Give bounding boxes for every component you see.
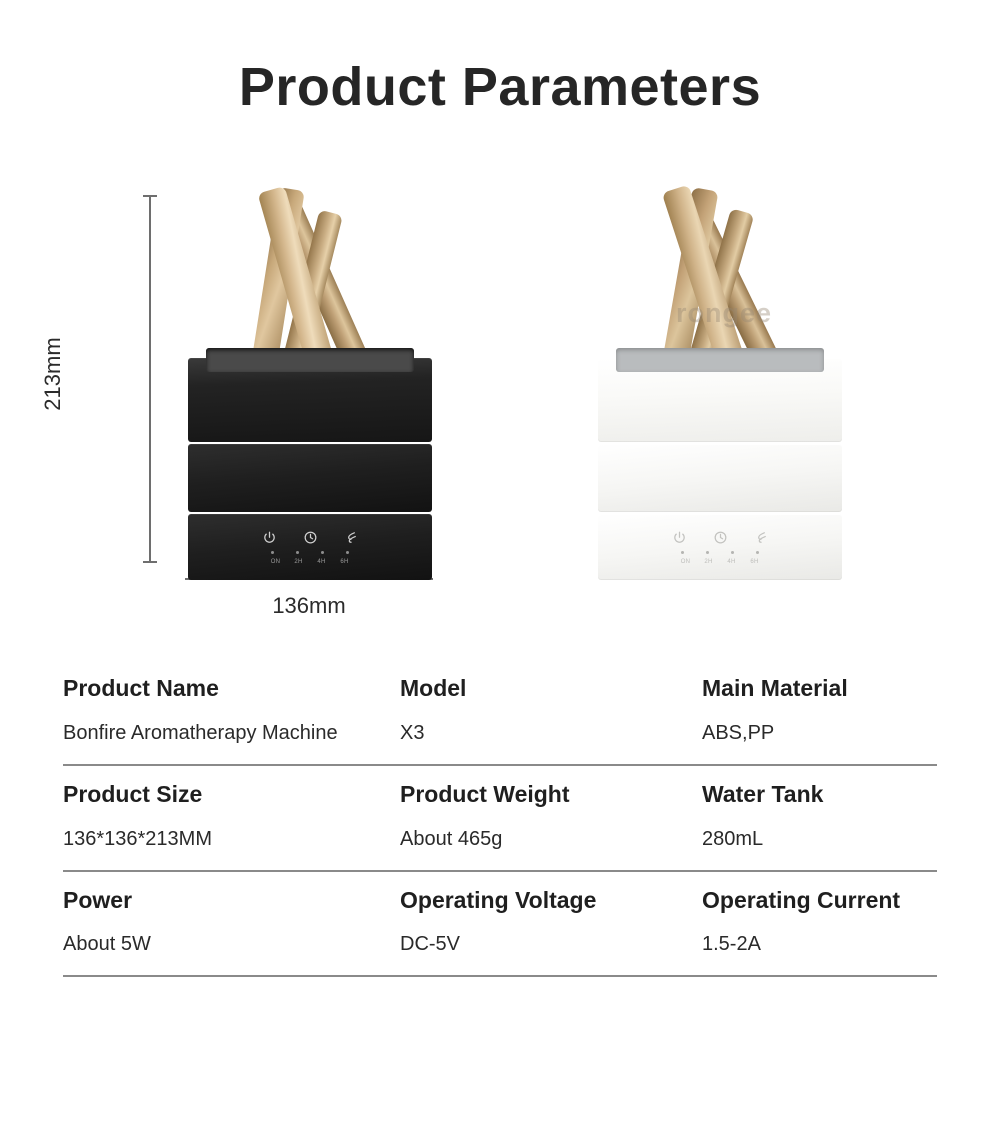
spec-label: Power xyxy=(63,886,386,929)
led-dot xyxy=(706,551,709,554)
clock-icon xyxy=(713,530,728,545)
width-dimension-label: 136mm xyxy=(185,593,433,619)
spec-value: 1.5-2A xyxy=(702,928,923,959)
spec-label: Water Tank xyxy=(702,780,923,823)
timer-label: ON xyxy=(269,559,283,565)
spec-cell: Product Name Bonfire Aromatherapy Machin… xyxy=(63,674,400,748)
led-dot xyxy=(731,551,734,554)
spec-cell: Operating Current 1.5-2A xyxy=(702,886,937,960)
power-icon xyxy=(262,530,277,545)
spec-value: 136*136*213MM xyxy=(63,823,386,854)
product-image-black-unit: ON 2H 4H 6H xyxy=(178,180,442,580)
mist-icon xyxy=(344,530,359,545)
timer-label: 4H xyxy=(315,559,329,565)
timer-labels-black: ON 2H 4H 6H xyxy=(269,559,352,565)
led-dot xyxy=(756,551,759,554)
spec-label: Product Name xyxy=(63,674,386,717)
spec-label: Main Material xyxy=(702,674,923,717)
mist-icon xyxy=(754,530,769,545)
spec-value: 280mL xyxy=(702,823,923,854)
spec-cell: Main Material ABS,PP xyxy=(702,674,937,748)
unit-tier-middle xyxy=(188,444,432,512)
spec-cell: Water Tank 280mL xyxy=(702,780,937,854)
height-dimension-cap-bottom xyxy=(143,561,157,563)
spec-value: Bonfire Aromatherapy Machine xyxy=(63,717,386,748)
timer-label: 2H xyxy=(292,559,306,565)
spec-value: About 5W xyxy=(63,928,386,959)
spec-cell: Product Weight About 465g xyxy=(400,780,702,854)
timer-label: 6H xyxy=(338,559,352,565)
led-dot xyxy=(296,551,299,554)
timer-labels-white: ON 2H 4H 6H xyxy=(679,559,762,565)
table-row: Product Name Bonfire Aromatherapy Machin… xyxy=(63,660,937,766)
timer-indicator-leds xyxy=(271,551,349,554)
timer-label: 6H xyxy=(748,559,762,565)
power-icon xyxy=(672,530,687,545)
product-image-stage: 213mm 136mm xyxy=(0,175,1000,635)
spec-cell: Product Size 136*136*213MM xyxy=(63,780,400,854)
spec-label: Operating Current xyxy=(702,886,923,929)
spec-cell: Model X3 xyxy=(400,674,702,748)
spec-value: ABS,PP xyxy=(702,717,923,748)
led-dot xyxy=(681,551,684,554)
spec-label: Model xyxy=(400,674,688,717)
height-dimension-cap-top xyxy=(143,195,157,197)
spec-label: Operating Voltage xyxy=(400,886,688,929)
led-dot xyxy=(271,551,274,554)
led-dot xyxy=(346,551,349,554)
spec-cell: Power About 5W xyxy=(63,886,400,960)
log-slot-opening xyxy=(616,348,824,372)
spec-value: About 465g xyxy=(400,823,688,854)
timer-label: 4H xyxy=(725,559,739,565)
clock-icon xyxy=(303,530,318,545)
product-image-white-unit: rongee O xyxy=(588,180,852,580)
height-dimension-line xyxy=(149,195,151,563)
spec-value: X3 xyxy=(400,717,688,748)
spec-label: Product Weight xyxy=(400,780,688,823)
control-panel-white: ON 2H 4H 6H xyxy=(588,530,852,565)
log-slot-opening xyxy=(206,348,414,372)
timer-indicator-leds xyxy=(681,551,759,554)
height-dimension-label: 213mm xyxy=(40,309,66,439)
spec-value: DC-5V xyxy=(400,928,688,959)
table-row: Power About 5W Operating Voltage DC-5V O… xyxy=(63,872,937,978)
specification-table: Product Name Bonfire Aromatherapy Machin… xyxy=(63,660,937,977)
page-title: Product Parameters xyxy=(0,56,1000,118)
timer-label: ON xyxy=(679,559,693,565)
control-panel-black: ON 2H 4H 6H xyxy=(178,530,442,565)
table-row: Product Size 136*136*213MM Product Weigh… xyxy=(63,766,937,872)
led-dot xyxy=(321,551,324,554)
unit-tier-middle xyxy=(598,444,842,512)
timer-label: 2H xyxy=(702,559,716,565)
spec-label: Product Size xyxy=(63,780,386,823)
spec-cell: Operating Voltage DC-5V xyxy=(400,886,702,960)
